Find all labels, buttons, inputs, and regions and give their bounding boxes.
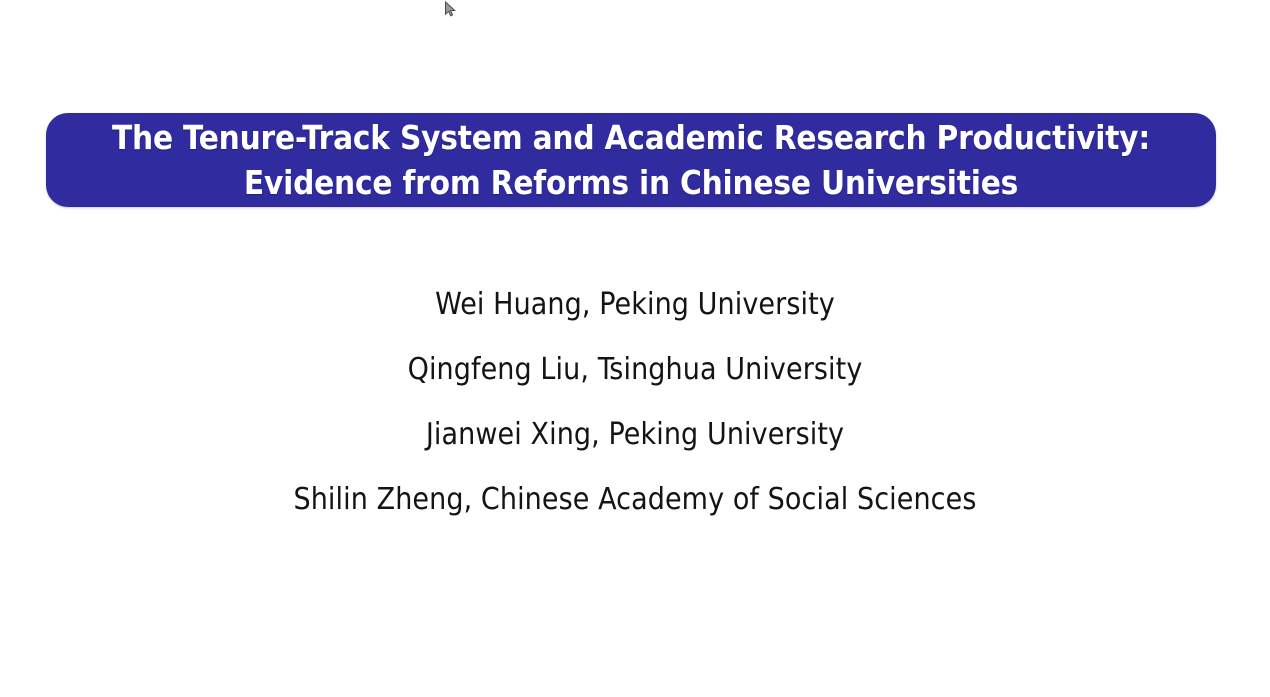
author-line: Jianwei Xing, Peking University [426,402,844,467]
author-line: Shilin Zheng, Chinese Academy of Social … [293,467,976,532]
author-line: Wei Huang, Peking University [435,272,835,337]
author-line: Qingfeng Liu, Tsinghua University [408,337,863,402]
author-list: Wei Huang, Peking University Qingfeng Li… [0,272,1270,532]
mouse-pointer-icon [444,1,458,19]
slide-title-text: The Tenure-Track System and Academic Res… [72,115,1190,205]
presentation-slide: The Tenure-Track System and Academic Res… [0,0,1270,697]
slide-title-banner: The Tenure-Track System and Academic Res… [46,113,1216,207]
